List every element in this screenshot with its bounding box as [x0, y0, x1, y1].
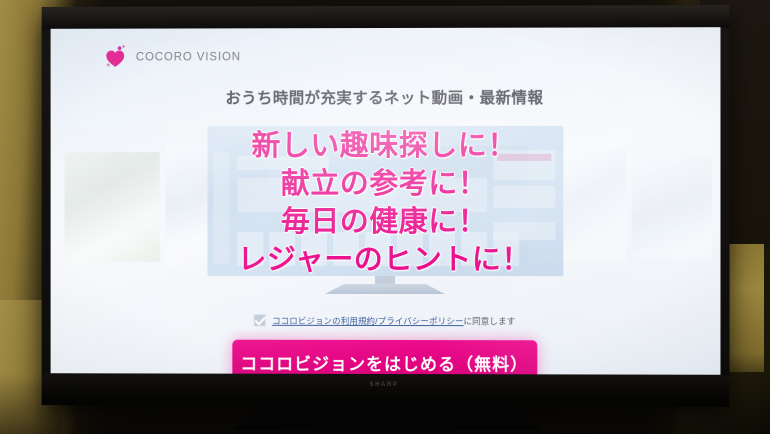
consent-checkbox[interactable] — [253, 314, 266, 327]
consent-label: ココロビジョンの利用規約/プライバシーポリシーに同意します — [272, 314, 515, 326]
terms-privacy-link[interactable]: ココロビジョンの利用規約/プライバシーポリシー — [272, 315, 463, 325]
page-headline: おうち時間が充実するネット動画・最新情報 — [51, 85, 721, 108]
monitor-mockup-base — [325, 284, 445, 294]
tv-bezel-top — [42, 5, 730, 30]
television: COCORO VISION — [42, 5, 730, 407]
floor-shadow — [0, 374, 770, 434]
consent-row[interactable]: ココロビジョンの利用規約/プライバシーポリシーに同意します — [51, 314, 721, 328]
monitor-mockup-neck — [375, 276, 395, 284]
room-scene: COCORO VISION — [0, 0, 770, 434]
hero-copy-line-2: 献立の参考に！ — [51, 170, 721, 199]
consent-suffix: に同意します — [464, 316, 516, 326]
start-cocoro-vision-button[interactable]: ココロビジョンをはじめる（無料） — [232, 340, 537, 377]
brand-name: COCORO VISION — [136, 51, 241, 63]
hero-copy-line-4: レジャーのヒントに！ — [51, 246, 721, 276]
cta-container: ココロビジョンをはじめる（無料） — [51, 339, 721, 376]
heart-icon — [102, 45, 128, 71]
hero-copy-line-1: 新しい趣味探しに！ — [51, 132, 721, 162]
tv-screen: COCORO VISION — [51, 27, 721, 377]
hero-copy-line-3: 毎日の健康に！ — [51, 208, 721, 237]
hero-copy: 新しい趣味探しに！ 献立の参考に！ 毎日の健康に！ レジャーのヒントに！ — [51, 132, 721, 276]
cocoro-vision-landing-page: COCORO VISION — [51, 27, 721, 377]
brand-lockup: COCORO VISION — [102, 44, 241, 70]
